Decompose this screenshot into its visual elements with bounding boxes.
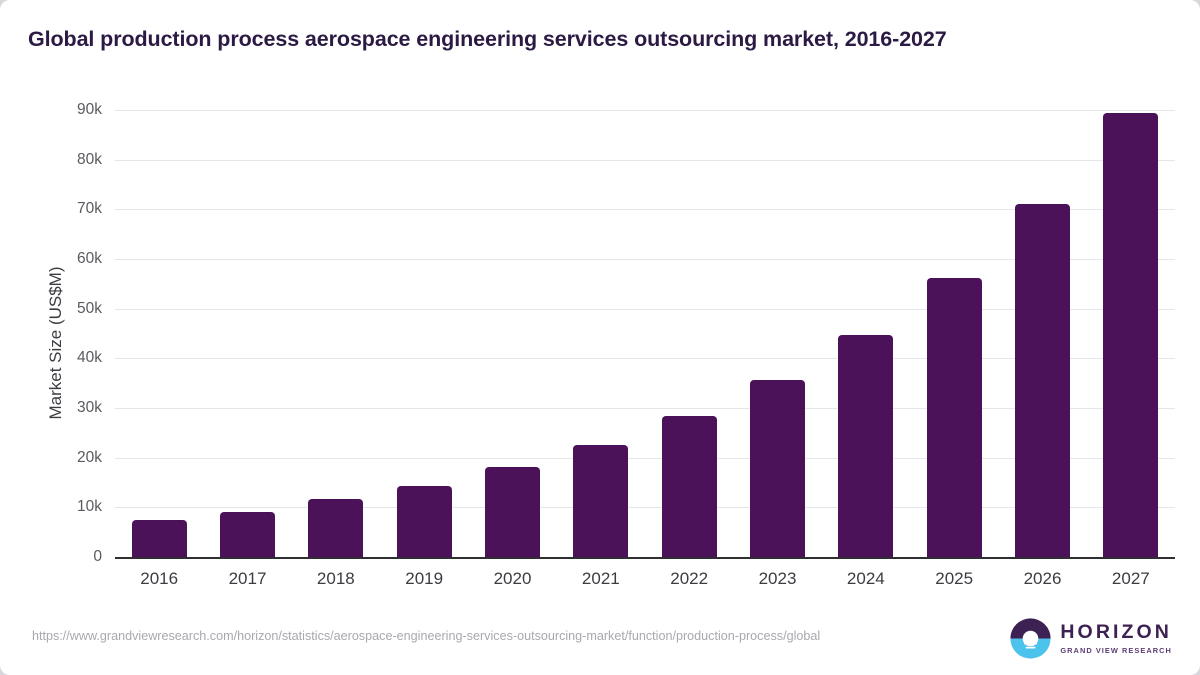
y-axis-tick-label: 80k	[40, 151, 102, 169]
y-axis-tick-label: 40k	[40, 349, 102, 367]
bar-slot	[573, 110, 628, 558]
bar-slot	[308, 110, 363, 558]
x-axis-tick-label: 2016	[115, 569, 203, 589]
y-axis-tick-label: 10k	[40, 498, 102, 516]
logo-title: HORIZON	[1060, 623, 1172, 643]
x-axis-line	[115, 557, 1175, 559]
x-axis-tick-label: 2027	[1087, 569, 1175, 589]
y-axis-tick-label: 50k	[40, 300, 102, 318]
bar[interactable]	[573, 445, 628, 558]
bar[interactable]	[308, 499, 363, 558]
x-axis-tick-label: 2018	[292, 569, 380, 589]
bar[interactable]	[838, 335, 893, 559]
bar-slot	[220, 110, 275, 558]
logo-text: HORIZON GRAND VIEW RESEARCH	[1060, 623, 1172, 654]
y-axis-tick-label: 30k	[40, 399, 102, 417]
horizon-logo: HORIZON GRAND VIEW RESEARCH	[1010, 618, 1172, 659]
bar-slot	[485, 110, 540, 558]
bar[interactable]	[220, 512, 275, 558]
bar[interactable]	[1015, 204, 1070, 558]
bar[interactable]	[132, 520, 187, 558]
chart-page: Global production process aerospace engi…	[0, 0, 1200, 675]
x-axis-tick-label: 2019	[380, 569, 468, 589]
x-axis-tick-label: 2022	[645, 569, 733, 589]
y-axis-tick-label: 60k	[40, 250, 102, 268]
bar-series	[115, 110, 1175, 558]
bar-slot	[397, 110, 452, 558]
bar[interactable]	[397, 486, 452, 559]
bar[interactable]	[1103, 113, 1158, 558]
x-axis: 2016201720182019202020212022202320242025…	[115, 569, 1175, 595]
bar-slot	[927, 110, 982, 558]
bar-slot	[1103, 110, 1158, 558]
logo-subtitle: GRAND VIEW RESEARCH	[1060, 647, 1172, 654]
y-axis: Market Size (US$M) 010k20k30k40k50k60k70…	[28, 0, 102, 675]
x-axis-tick-label: 2025	[910, 569, 998, 589]
x-axis-tick-label: 2026	[998, 569, 1086, 589]
bar[interactable]	[662, 416, 717, 558]
x-axis-tick-label: 2023	[733, 569, 821, 589]
bar[interactable]	[750, 380, 805, 558]
x-axis-tick-label: 2024	[822, 569, 910, 589]
horizon-sunrise-icon	[1010, 618, 1051, 659]
source-url[interactable]: https://www.grandviewresearch.com/horizo…	[32, 628, 937, 645]
y-axis-tick-label: 70k	[40, 200, 102, 218]
y-axis-tick-label: 0	[40, 548, 102, 566]
bar-slot	[662, 110, 717, 558]
bar[interactable]	[485, 467, 540, 558]
bar-slot	[1015, 110, 1070, 558]
bar-slot	[838, 110, 893, 558]
x-axis-tick-label: 2021	[557, 569, 645, 589]
bar[interactable]	[927, 278, 982, 558]
page-title: Global production process aerospace engi…	[28, 27, 947, 52]
bar-slot	[132, 110, 187, 558]
x-axis-tick-label: 2020	[468, 569, 556, 589]
x-axis-tick-label: 2017	[203, 569, 291, 589]
y-axis-tick-label: 90k	[40, 101, 102, 119]
y-axis-tick-label: 20k	[40, 449, 102, 467]
bar-slot	[750, 110, 805, 558]
